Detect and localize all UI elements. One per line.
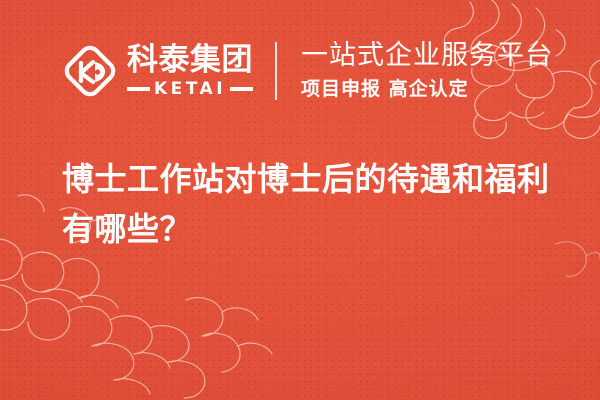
brand-name-en: KETAI [154, 81, 226, 98]
ketai-diamond-monogram-logo-icon [62, 43, 118, 99]
promotional-banner: 科泰集团 KETAI 一站式企业服务平台 项目申报 高企认定 博士工作站对博士后… [0, 0, 600, 400]
slogan-block: 一站式企业服务平台 项目申报 高企认定 [301, 41, 553, 100]
header-divider [275, 42, 277, 100]
brand-logo[interactable]: 科泰集团 KETAI [62, 43, 253, 99]
slogan-sub: 项目申报 高企认定 [301, 78, 553, 101]
headline-title: 博士工作站对博士后的待遇和福利有哪些？ [62, 155, 562, 254]
logo-dash-right [230, 87, 253, 91]
brand-name-en-row: KETAI [127, 81, 253, 98]
brand-name-cn: 科泰集团 [127, 45, 253, 76]
logo-dash-left [127, 87, 150, 91]
slogan-main: 一站式企业服务平台 [301, 41, 553, 71]
brand-header: 科泰集团 KETAI 一站式企业服务平台 项目申报 高企认定 [62, 35, 553, 107]
